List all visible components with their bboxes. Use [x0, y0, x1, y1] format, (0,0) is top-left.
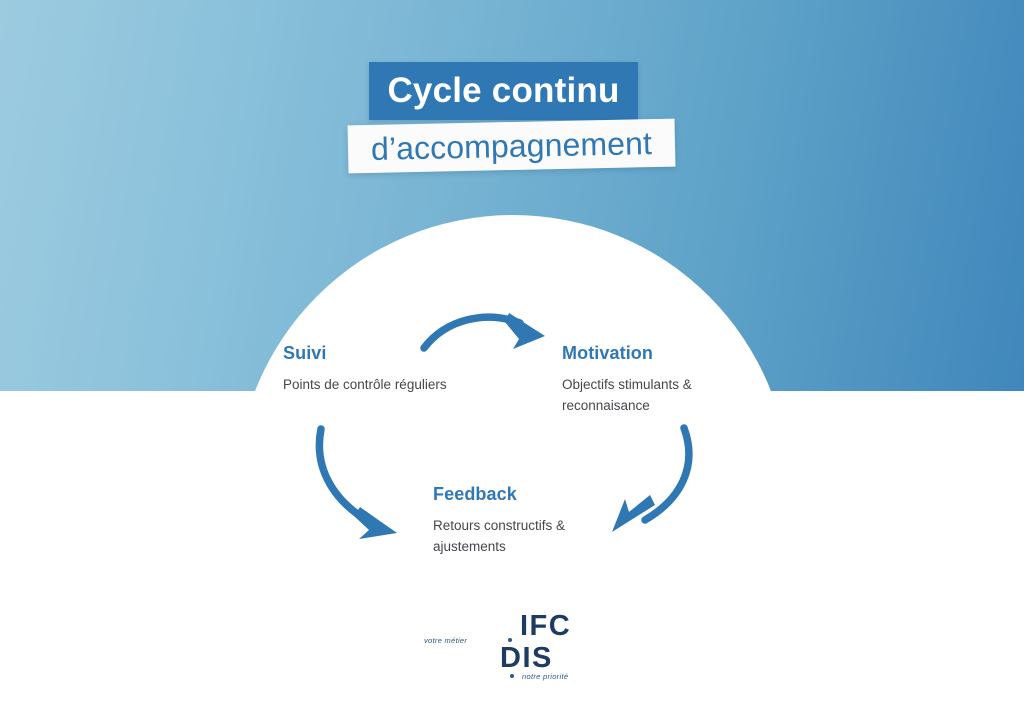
- brand-logo: votre métier IFC DIS notre priorité: [0, 606, 1024, 692]
- cycle-node-feedback-heading: Feedback: [433, 484, 618, 505]
- page-title: Cycle continu d’accompagnement: [0, 62, 1024, 182]
- cycle-node-motivation-heading: Motivation: [562, 343, 752, 364]
- cycle-node-motivation-description: Objectifs stimulants & reconnaisance: [562, 375, 752, 417]
- brand-logo-inner: votre métier IFC DIS notre priorité: [412, 606, 612, 692]
- cycle-node-feedback-description: Retours constructifs & ajustements: [433, 516, 618, 558]
- cycle-node-feedback: Feedback Retours constructifs & ajusteme…: [433, 484, 618, 558]
- title-text-secondary: d’accompagnement: [371, 125, 653, 168]
- bullet-dot-icon-right: [510, 674, 514, 678]
- cycle-node-suivi-heading: Suivi: [283, 343, 513, 364]
- brand-wordmark-ifc: IFC: [520, 612, 571, 641]
- cycle-node-motivation: Motivation Objectifs stimulants & reconn…: [562, 343, 752, 417]
- cycle-node-suivi-description: Points de contrôle réguliers: [283, 375, 513, 396]
- title-banner-secondary: d’accompagnement: [348, 119, 676, 174]
- brand-wordmark-dis: DIS: [500, 644, 553, 673]
- brand-tagline-left: votre métier: [424, 636, 467, 645]
- title-text-primary: Cycle continu: [387, 71, 619, 111]
- brand-tagline-right: notre priorité: [522, 672, 568, 681]
- cycle-node-suivi: Suivi Points de contrôle réguliers: [283, 343, 513, 396]
- title-banner-primary: Cycle continu: [369, 62, 638, 120]
- infographic-canvas: Cycle continu d’accompagnement Suivi Poi…: [0, 0, 1024, 724]
